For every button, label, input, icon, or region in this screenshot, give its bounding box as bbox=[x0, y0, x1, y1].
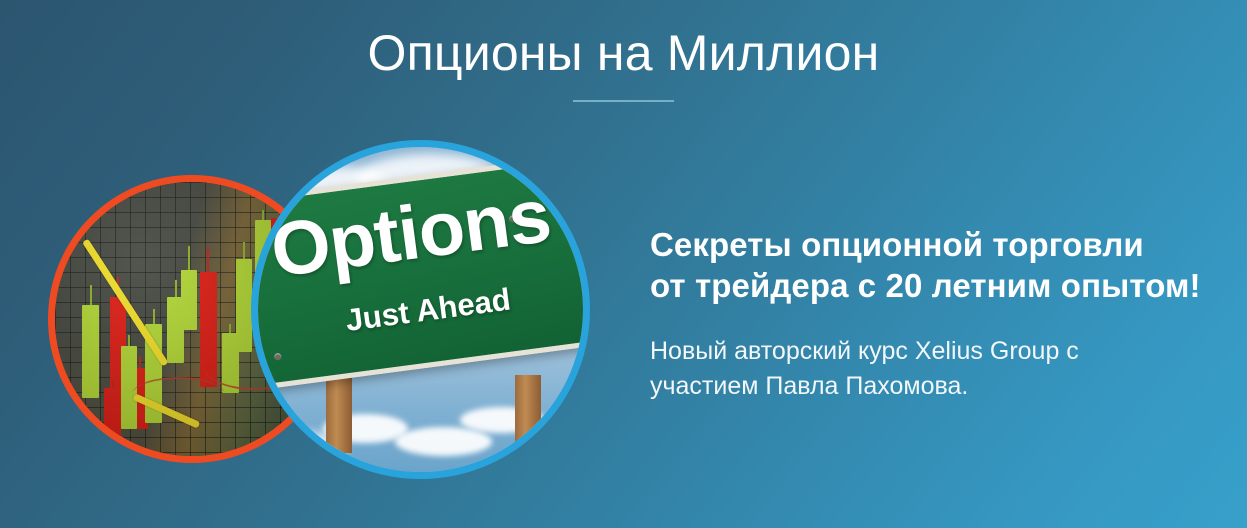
promo-banner: Опционы на Миллион bbox=[0, 0, 1247, 528]
headline: Секреты опционной торговли от трейдера с… bbox=[650, 224, 1225, 306]
sign-bolt bbox=[274, 353, 282, 361]
page-title: Опционы на Миллион bbox=[0, 22, 1247, 84]
sign-secondary-text: Just Ahead bbox=[344, 282, 513, 337]
marketing-copy: Секреты опционной торговли от трейдера с… bbox=[650, 224, 1225, 404]
options-sign-image: Options Just Ahead bbox=[251, 140, 590, 479]
sign-primary-text: Options bbox=[266, 175, 554, 293]
subcopy-line-2: участием Павла Пахомова. bbox=[650, 372, 968, 400]
sign-bolt bbox=[257, 223, 265, 231]
sign-post bbox=[515, 375, 541, 453]
headline-line-1: Секреты опционной торговли bbox=[650, 226, 1144, 263]
subcopy: Новый авторский курс Xelius Group с учас… bbox=[650, 334, 1225, 404]
title-divider bbox=[573, 100, 674, 102]
title-block: Опционы на Миллион bbox=[0, 22, 1247, 102]
sign-post bbox=[326, 375, 352, 453]
cloud bbox=[395, 427, 493, 456]
subcopy-line-1: Новый авторский курс Xelius Group с bbox=[650, 337, 1079, 365]
headline-line-2: от трейдера с 20 летним опытом! bbox=[650, 267, 1201, 304]
